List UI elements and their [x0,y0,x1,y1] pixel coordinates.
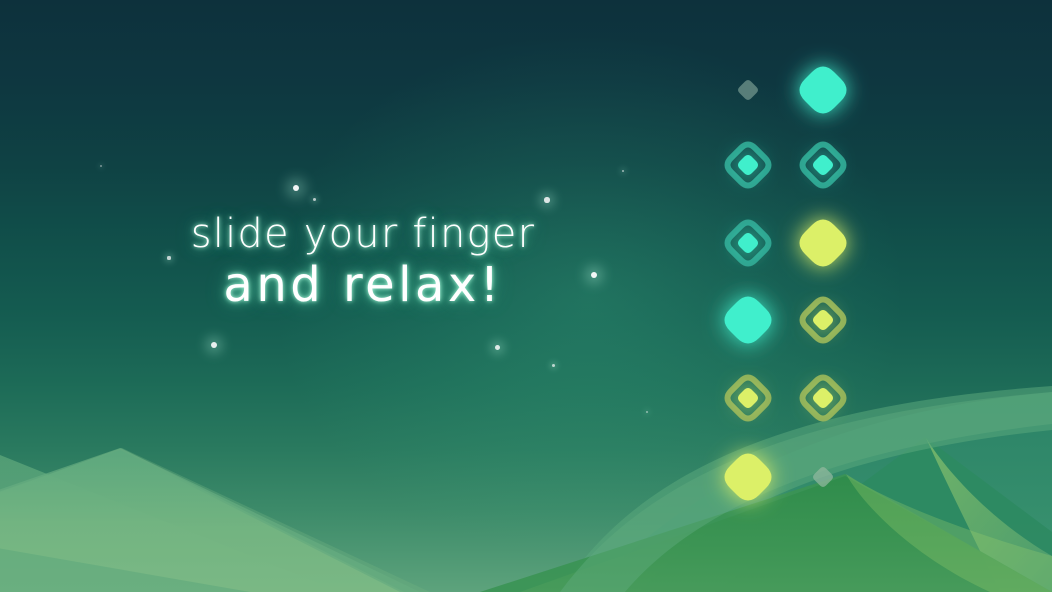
yellow-ring-corner-2[interactable] [738,388,758,408]
yellow-ring-pass[interactable] [813,310,833,330]
cyan-start-node[interactable] [800,67,847,114]
yellow-end-node[interactable] [725,454,772,501]
game-promo-screen: slide your finger and relax! [0,0,1052,592]
cyan-ring-corner[interactable] [813,155,833,175]
inactive-node-top[interactable] [738,80,758,100]
cyan-end-node[interactable] [725,297,772,344]
cyan-ring-corner-2[interactable] [738,155,758,175]
yellow-ring-corner[interactable] [813,388,833,408]
yellow-start-node[interactable] [800,220,847,267]
cyan-ring-pass[interactable] [738,233,758,253]
inactive-node-bottom[interactable] [813,467,833,487]
flow-puzzle-board[interactable] [0,0,1052,592]
